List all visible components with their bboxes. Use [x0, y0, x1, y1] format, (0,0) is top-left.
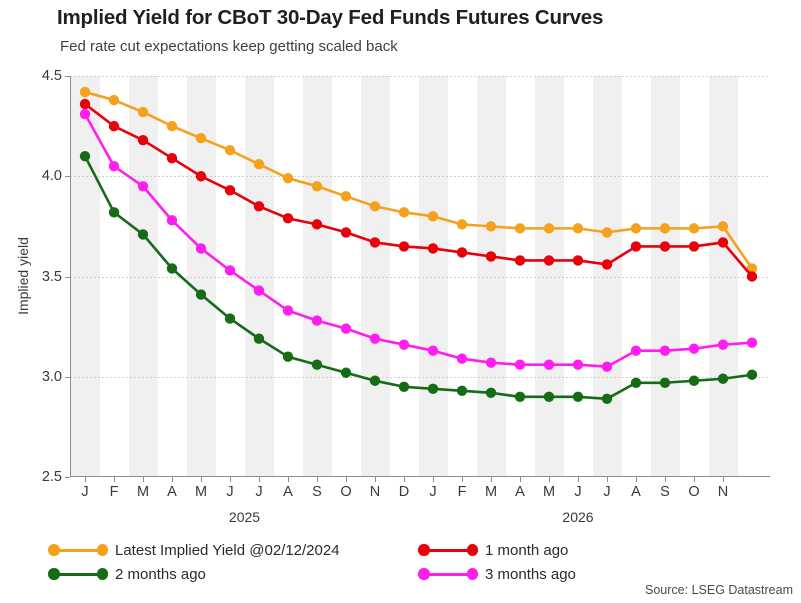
data-point	[428, 243, 438, 253]
x-tick-label: N	[708, 484, 738, 500]
data-point	[109, 121, 119, 131]
data-point	[225, 265, 235, 275]
data-point	[138, 107, 148, 117]
data-point	[428, 211, 438, 221]
data-point	[428, 345, 438, 355]
data-point	[718, 237, 728, 247]
data-point	[225, 313, 235, 323]
data-point	[689, 343, 699, 353]
data-point	[341, 191, 351, 201]
data-point	[283, 305, 293, 315]
x-tick-label: J	[244, 484, 274, 500]
legend-label-latest: Latest Implied Yield @02/12/2024	[115, 542, 340, 559]
x-tick-mark	[346, 477, 347, 482]
x-tick-label: O	[679, 484, 709, 500]
x-tick-mark	[404, 477, 405, 482]
x-tick-mark	[288, 477, 289, 482]
data-point	[718, 339, 728, 349]
legend-label-3-months-ago: 3 months ago	[485, 566, 576, 583]
data-point	[399, 382, 409, 392]
data-point	[457, 247, 467, 257]
source-note: Source: LSEG Datastream	[645, 583, 793, 597]
data-point	[167, 215, 177, 225]
x-tick-label: J	[563, 484, 593, 500]
data-point	[312, 360, 322, 370]
y-tick-label: 2.5	[18, 469, 62, 485]
y-tick-label: 3.0	[18, 369, 62, 385]
x-tick-mark	[549, 477, 550, 482]
data-point	[486, 388, 496, 398]
data-point	[138, 229, 148, 239]
data-point	[341, 323, 351, 333]
data-point	[457, 386, 467, 396]
data-point	[109, 207, 119, 217]
x-tick-label: M	[476, 484, 506, 500]
x-tick-label: A	[621, 484, 651, 500]
data-point	[660, 345, 670, 355]
data-point	[718, 221, 728, 231]
legend-item-2-months-ago[interactable]: 2 months ago	[48, 564, 206, 584]
x-tick-label: M	[534, 484, 564, 500]
data-point	[225, 185, 235, 195]
x-tick-label: S	[650, 484, 680, 500]
series-2-months-ago	[80, 151, 757, 404]
data-point	[457, 354, 467, 364]
data-point	[370, 201, 380, 211]
series-layer	[70, 76, 770, 477]
data-point	[167, 121, 177, 131]
data-point	[370, 237, 380, 247]
legend-item-3-months-ago[interactable]: 3 months ago	[418, 564, 576, 584]
data-point	[573, 392, 583, 402]
data-point	[515, 223, 525, 233]
data-point	[254, 333, 264, 343]
data-point	[254, 201, 264, 211]
data-point	[544, 360, 554, 370]
y-tick-label: 4.0	[18, 168, 62, 184]
x-tick-mark	[317, 477, 318, 482]
data-point	[370, 376, 380, 386]
x-tick-label: N	[360, 484, 390, 500]
series-line	[85, 114, 752, 367]
data-point	[80, 109, 90, 119]
data-point	[138, 181, 148, 191]
x-tick-label: A	[273, 484, 303, 500]
x-tick-mark	[433, 477, 434, 482]
x-tick-mark	[85, 477, 86, 482]
data-point	[515, 392, 525, 402]
x-tick-label: A	[157, 484, 187, 500]
data-point	[225, 145, 235, 155]
data-point	[312, 181, 322, 191]
data-point	[428, 384, 438, 394]
x-tick-mark	[172, 477, 173, 482]
x-tick-mark	[607, 477, 608, 482]
x-tick-mark	[694, 477, 695, 482]
data-point	[399, 339, 409, 349]
data-point	[544, 392, 554, 402]
x-tick-mark	[636, 477, 637, 482]
data-point	[399, 207, 409, 217]
data-point	[544, 255, 554, 265]
legend-swatch-magenta	[418, 568, 478, 580]
x-tick-mark	[114, 477, 115, 482]
data-point	[602, 394, 612, 404]
data-point	[602, 259, 612, 269]
x-tick-label: A	[505, 484, 535, 500]
legend: Latest Implied Yield @02/12/2024 1 month…	[48, 540, 768, 586]
data-point	[747, 370, 757, 380]
data-point	[399, 241, 409, 251]
x-tick-mark	[230, 477, 231, 482]
data-point	[631, 223, 641, 233]
data-point	[573, 360, 583, 370]
year-label: 2025	[205, 509, 285, 525]
x-tick-mark	[201, 477, 202, 482]
data-point	[747, 271, 757, 281]
data-point	[109, 161, 119, 171]
legend-swatch-red	[418, 544, 478, 556]
x-tick-label: F	[447, 484, 477, 500]
year-label: 2026	[538, 509, 618, 525]
data-point	[631, 378, 641, 388]
data-point	[660, 223, 670, 233]
legend-item-1-month-ago[interactable]: 1 month ago	[418, 540, 568, 560]
x-tick-mark	[723, 477, 724, 482]
page-title: Implied Yield for CBoT 30-Day Fed Funds …	[57, 6, 797, 30]
data-point	[196, 289, 206, 299]
data-point	[486, 221, 496, 231]
data-point	[370, 333, 380, 343]
x-tick-label: M	[186, 484, 216, 500]
page-subtitle: Fed rate cut expectations keep getting s…	[60, 38, 800, 55]
legend-item-latest[interactable]: Latest Implied Yield @02/12/2024	[48, 540, 340, 560]
data-point	[196, 133, 206, 143]
chart-page: Implied Yield for CBoT 30-Day Fed Funds …	[0, 0, 801, 603]
x-tick-mark	[520, 477, 521, 482]
data-point	[254, 159, 264, 169]
data-point	[660, 378, 670, 388]
data-point	[515, 360, 525, 370]
data-point	[573, 223, 583, 233]
series-line	[85, 156, 752, 399]
data-point	[515, 255, 525, 265]
x-tick-label: J	[215, 484, 245, 500]
legend-label-1-month-ago: 1 month ago	[485, 542, 568, 559]
data-point	[573, 255, 583, 265]
y-tick-mark	[65, 477, 70, 478]
data-point	[486, 251, 496, 261]
series-3-months-ago	[80, 109, 757, 372]
series-line	[85, 104, 752, 276]
legend-label-2-months-ago: 2 months ago	[115, 566, 206, 583]
data-point	[283, 213, 293, 223]
data-point	[602, 362, 612, 372]
data-point	[544, 223, 554, 233]
series-line	[85, 92, 752, 268]
x-tick-mark	[462, 477, 463, 482]
x-tick-label: D	[389, 484, 419, 500]
data-point	[167, 263, 177, 273]
data-point	[109, 95, 119, 105]
data-point	[138, 135, 148, 145]
y-axis-title: Implied yield	[15, 237, 31, 315]
data-point	[80, 99, 90, 109]
data-point	[602, 227, 612, 237]
data-point	[631, 345, 641, 355]
x-tick-label: J	[418, 484, 448, 500]
legend-swatch-green	[48, 568, 108, 580]
x-tick-mark	[578, 477, 579, 482]
data-point	[689, 223, 699, 233]
data-point	[80, 151, 90, 161]
data-point	[283, 352, 293, 362]
x-tick-mark	[665, 477, 666, 482]
data-point	[689, 376, 699, 386]
y-tick-label: 4.5	[18, 68, 62, 84]
x-tick-label: J	[592, 484, 622, 500]
plot-area	[70, 76, 770, 477]
data-point	[631, 241, 641, 251]
data-point	[254, 285, 264, 295]
x-tick-mark	[375, 477, 376, 482]
data-point	[312, 219, 322, 229]
series-1-month-ago	[80, 99, 757, 282]
data-point	[196, 243, 206, 253]
x-tick-label: O	[331, 484, 361, 500]
x-tick-label: S	[302, 484, 332, 500]
legend-swatch-orange	[48, 544, 108, 556]
data-point	[167, 153, 177, 163]
data-point	[341, 227, 351, 237]
data-point	[689, 241, 699, 251]
x-tick-mark	[143, 477, 144, 482]
data-point	[747, 337, 757, 347]
data-point	[486, 358, 496, 368]
data-point	[283, 173, 293, 183]
data-point	[660, 241, 670, 251]
x-tick-label: F	[99, 484, 129, 500]
data-point	[312, 315, 322, 325]
data-point	[196, 171, 206, 181]
data-point	[457, 219, 467, 229]
x-tick-mark	[491, 477, 492, 482]
data-point	[80, 87, 90, 97]
data-point	[341, 368, 351, 378]
x-tick-label: M	[128, 484, 158, 500]
x-tick-mark	[259, 477, 260, 482]
x-tick-label: J	[70, 484, 100, 500]
data-point	[718, 374, 728, 384]
